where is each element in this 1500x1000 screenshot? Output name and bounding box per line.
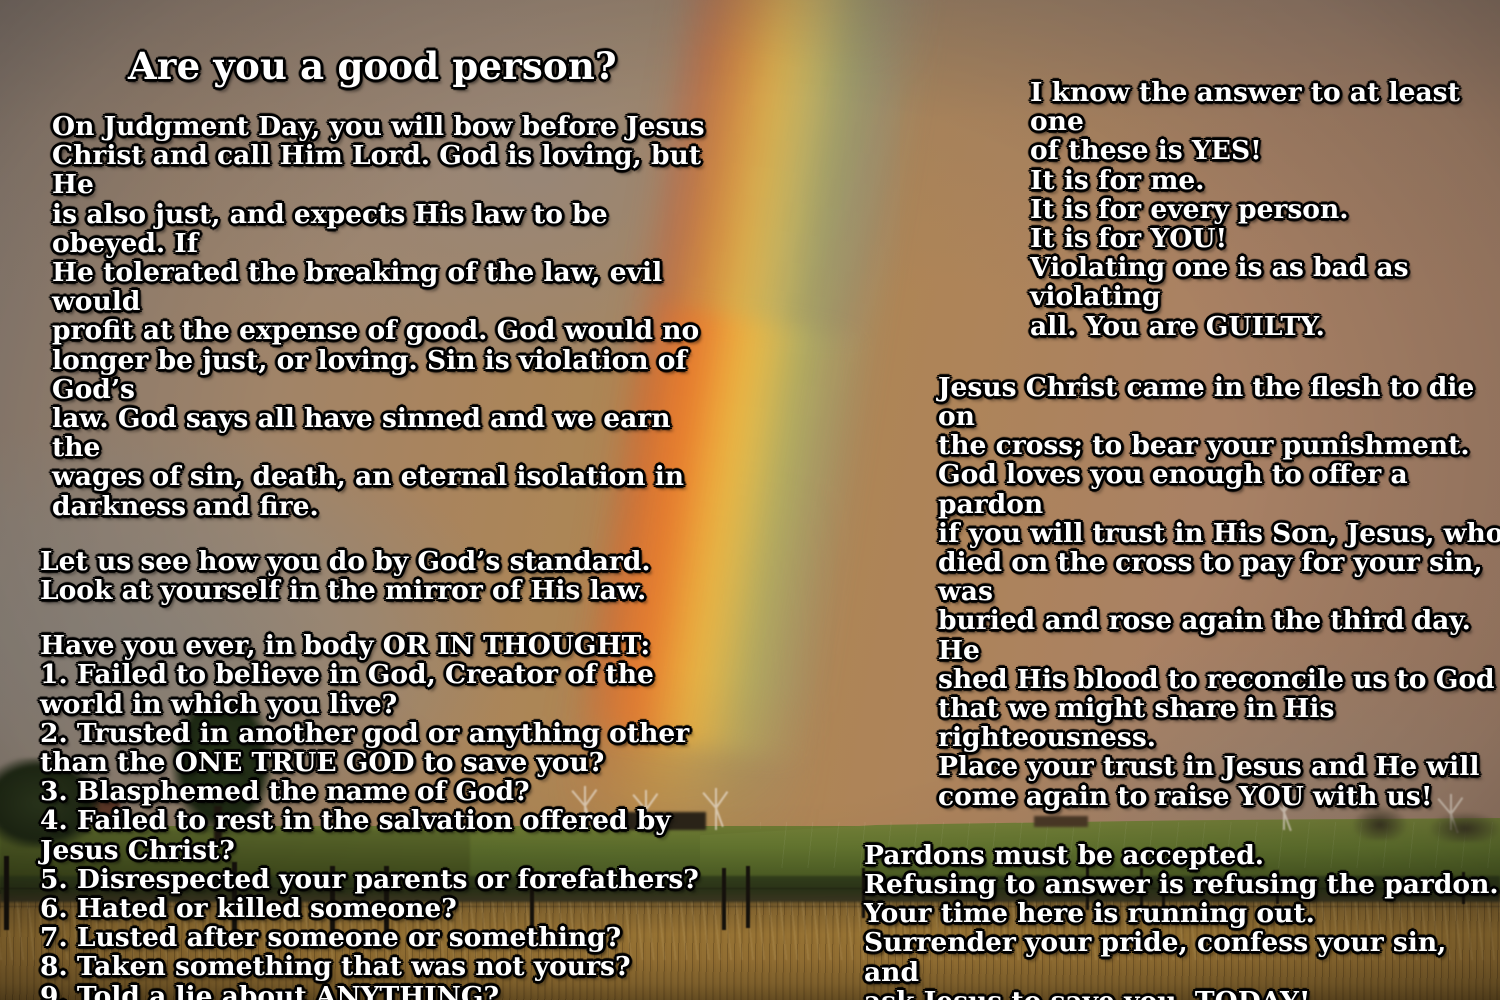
paragraph-gospel-pardon: Jesus Christ came in the flesh to die on… <box>864 373 1500 811</box>
paragraph-commandments-list: Have you ever, in body OR IN THOUGHT: 1.… <box>40 631 710 1000</box>
right-text-column: I know the answer to at least one of the… <box>864 78 1500 1000</box>
paragraph-verdict-guilty: I know the answer to at least one of the… <box>864 78 1500 341</box>
fence-post <box>746 866 750 928</box>
fence-post <box>722 868 726 930</box>
paragraph-call-to-action: Pardons must be accepted. Refusing to an… <box>864 841 1500 1000</box>
poster: Are you a good person? On Judgment Day, … <box>0 0 1500 1000</box>
page-title: Are you a good person? <box>128 44 617 88</box>
paragraph-judgment-day: On Judgment Day, you will bow before Jes… <box>40 112 710 521</box>
fence-post <box>4 856 9 930</box>
left-text-column: On Judgment Day, you will bow before Jes… <box>40 112 710 1000</box>
paragraph-mirror-of-law: Let us see how you do by God’s standard.… <box>40 547 710 605</box>
